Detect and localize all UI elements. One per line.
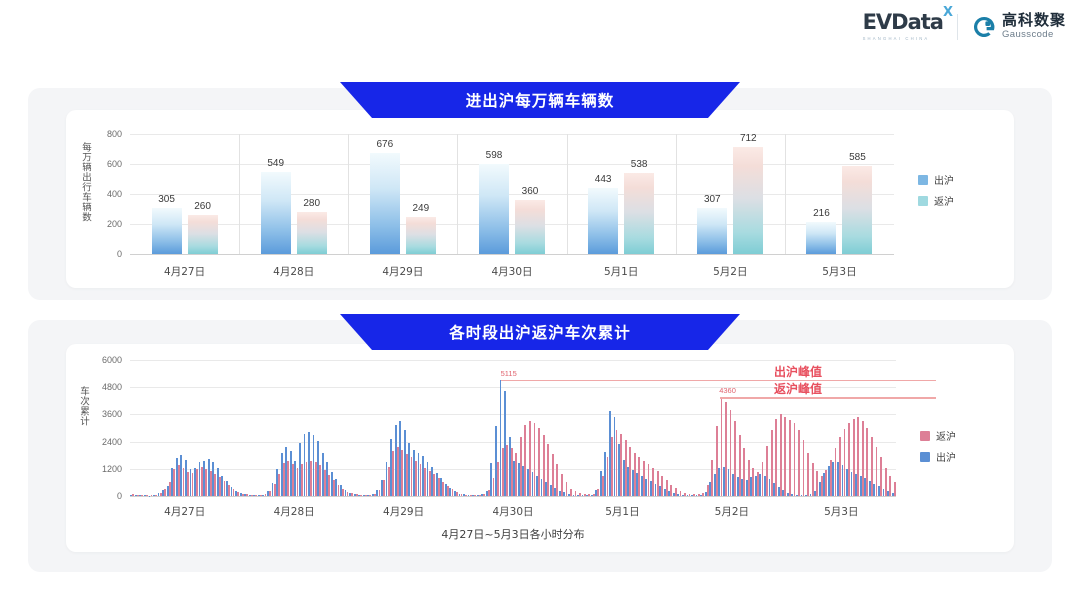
chart2-bar-return [894,482,896,496]
chart1-bar-value: 585 [849,152,866,163]
chart1-bar-value: 712 [740,133,757,144]
chart2-legend-label: 出沪 [936,449,956,464]
chart2-legend-swatch [920,431,930,441]
chart2-peak-line [720,397,936,398]
chart1-x-label: 4月28日 [273,264,314,279]
gausscode-en: Gausscode [1002,30,1066,40]
chart1-bar-value: 305 [158,194,175,205]
chart2-y-tick: 1200 [74,464,122,474]
chart2-bar-return [789,420,791,496]
chart1-bar-出沪[interactable] [261,172,291,254]
chart1-bar-返沪[interactable] [297,212,327,254]
chart2-bar-return [784,417,786,496]
chart1-bar-返沪[interactable] [624,173,654,254]
chart2-bar-return [775,419,777,496]
chart1-bar-value: 360 [522,186,539,197]
chart1-x-label: 5月2日 [713,264,747,279]
chart1-category-separator [348,134,349,254]
chart2-bar-return [780,414,782,496]
chart1-bar-value: 676 [377,139,394,150]
chart1-category-separator [676,134,677,254]
chart2-peak-value: 4360 [719,386,736,395]
chart2-legend-item[interactable]: 返沪 [920,428,956,443]
chart1-legend-label: 出沪 [934,172,954,187]
chart1-bar-返沪[interactable] [842,166,872,254]
chart1-bar-出沪[interactable] [806,222,836,254]
chart2-peak-line [501,380,936,381]
chart1-gridline [130,224,894,225]
chart2-y-tick: 2400 [74,437,122,447]
chart1-axis-baseline [130,254,894,255]
chart1-bar-出沪[interactable] [479,164,509,254]
chart1-bar-value: 598 [486,150,503,161]
chart1-category-separator [239,134,240,254]
chart2-x-label: 4月30日 [492,504,533,519]
chart1-y-tick: 0 [74,249,122,259]
chart1-bar-value: 549 [267,158,284,169]
chart1-bar-出沪[interactable] [588,188,618,254]
chart1-bar-出沪[interactable] [697,208,727,254]
chart1-bar-返沪[interactable] [406,217,436,254]
chart1-bar-出沪[interactable] [152,208,182,254]
chart2-bar-return [807,453,809,496]
chart2-bar-return [794,423,796,496]
chart1-bar-value: 538 [631,159,648,170]
page-header: EVData X SHANGHAI CHINA 高科数聚 Gausscode [0,0,1080,62]
chart1-x-label: 5月3日 [822,264,856,279]
card1-title: 进出沪每万辆车辆数 [466,89,615,111]
chart1-x-label: 5月1日 [604,264,638,279]
chart1-legend-swatch [918,175,928,185]
chart1-gridline [130,134,894,135]
chart1-legend-item[interactable]: 返沪 [918,193,954,208]
chart2-y-tick: 0 [74,491,122,501]
chart1-y-tick: 800 [74,129,122,139]
chart1-legend-item[interactable]: 出沪 [918,172,954,187]
chart2-y-tick: 4800 [74,382,122,392]
logo-group: EVData X SHANGHAI CHINA 高科数聚 Gausscode [863,12,1066,41]
chart1-x-label: 4月30日 [491,264,532,279]
chart1-gridline [130,194,894,195]
gausscode-logo: 高科数聚 Gausscode [972,13,1066,40]
card2-title-ribbon: 各时段出沪返沪车次累计 [340,314,740,350]
evdata-superscript: X [943,6,952,19]
evdata-logo: EVData X SHANGHAI CHINA [863,12,943,41]
chart2-y-tick: 3600 [74,409,122,419]
chart1-bar-返沪[interactable] [515,200,545,254]
chart1-bar-value: 260 [194,201,211,212]
chart1-y-tick: 600 [74,159,122,169]
chart1-bar-value: 307 [704,194,721,205]
chart2-x-label: 5月1日 [605,504,639,519]
chart1-category-separator [567,134,568,254]
chart1-legend: 出沪返沪 [918,172,954,208]
chart-vehicles-bar: 每万辆出行车辆数02004006008004月27日3052604月28日549… [66,110,1014,288]
chart1-category-separator [457,134,458,254]
chart1-bar-value: 443 [595,174,612,185]
chart2-x-label: 4月28日 [274,504,315,519]
chart2-x-label: 4月27日 [164,504,205,519]
chart2-peak-label: 返沪峰值 [774,380,822,397]
chart1-bar-出沪[interactable] [370,153,400,254]
chart1-bar-返沪[interactable] [188,215,218,254]
chart1-bar-value: 280 [303,198,320,209]
chart2-y-tick: 6000 [74,355,122,365]
chart2-x-label: 5月2日 [715,504,749,519]
evdata-name: EVData [863,10,943,34]
chart2-peak-label: 出沪峰值 [774,363,822,380]
chart1-y-tick: 400 [74,189,122,199]
chart-hourly-bar: 车次累计0120024003600480060004月27日4月28日4月29日… [66,344,1014,552]
chart1-gridline [130,164,894,165]
gauss-circle-icon [972,15,996,39]
chart2-x-label: 4月29日 [383,504,424,519]
chart1-bar-返沪[interactable] [733,147,763,254]
gausscode-text: 高科数聚 Gausscode [1002,13,1066,40]
chart1-bar-value: 216 [813,208,830,219]
chart1-bar-value: 249 [413,203,430,214]
chart2-x-axis-title: 4月27日~5月3日各小时分布 [441,526,584,542]
chart2-legend-swatch [920,452,930,462]
chart2-peak-value: 5115 [501,369,517,378]
chart1-category-separator [785,134,786,254]
card2-title: 各时段出沪返沪车次累计 [449,321,631,343]
chart2-gridline [130,360,896,361]
chart2-bar-return [798,430,800,496]
gausscode-cn: 高科数聚 [1002,13,1066,28]
chart2-axis-baseline [130,496,896,497]
chart2-legend: 返沪出沪 [920,428,956,464]
chart1-legend-label: 返沪 [934,193,954,208]
card1-title-ribbon: 进出沪每万辆车辆数 [340,82,740,118]
chart2-legend-label: 返沪 [936,428,956,443]
evdata-wordmark: EVData X [863,12,943,33]
evdata-tagline: SHANGHAI CHINA [863,36,943,41]
chart1-x-label: 4月29日 [382,264,423,279]
logo-divider [957,14,958,40]
chart2-legend-item[interactable]: 出沪 [920,449,956,464]
chart1-legend-swatch [918,196,928,206]
chart1-y-tick: 200 [74,219,122,229]
chart2-x-label: 5月3日 [824,504,858,519]
chart1-x-label: 4月27日 [164,264,205,279]
chart2-bar-return [803,440,805,496]
